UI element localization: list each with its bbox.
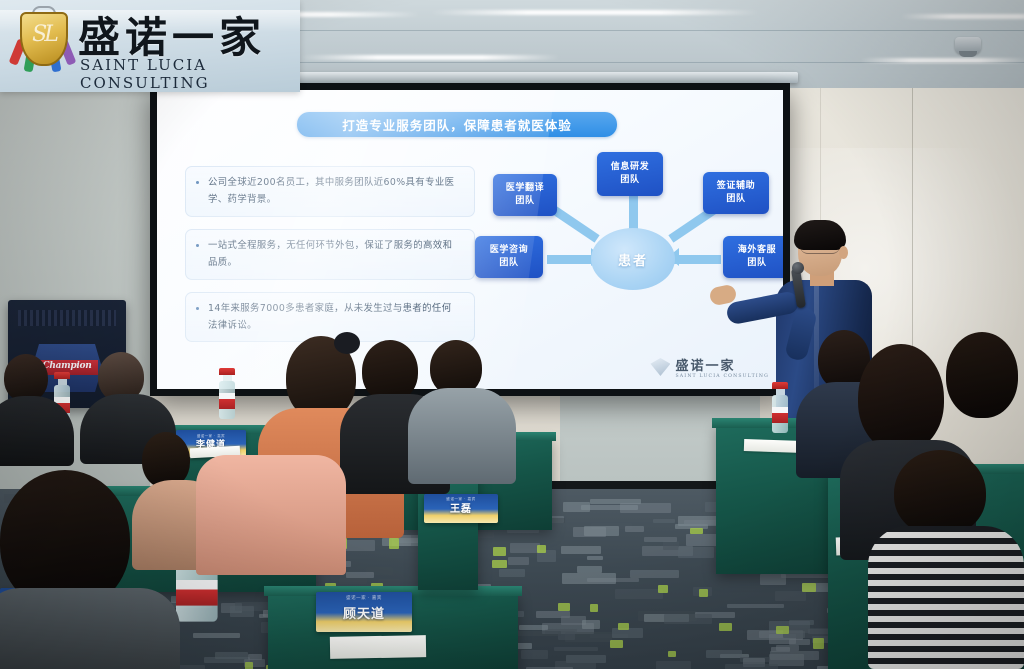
nameplate: 盛诺一家 · 嘉宾 顾天道 [316,592,412,632]
node-line-2: 团队 [515,195,534,209]
company-crest-icon: SL [14,6,70,76]
carpet-accent-fleck [537,545,546,552]
ceiling-light-strip [900,14,1024,19]
audience-head [858,344,944,452]
node-line-1: 医学翻译 [506,182,544,196]
carpet-fleck [582,620,600,629]
node-line-2: 团队 [620,174,639,188]
node-line-1: 医学咨询 [490,244,528,258]
carpet-fleck [783,628,832,638]
node-line-1: 信息研发 [611,161,649,175]
audience-body [0,588,180,669]
node-line-1: 签证辅助 [717,180,755,194]
diagram-center-node: 患者 [591,228,675,290]
crest-monogram: SL [22,22,66,47]
diamond-logo-icon [650,358,670,376]
carpet-fleck [193,633,240,638]
audience-body [408,388,516,484]
banner-brand-en: SAINT LUCIA CONSULTING [80,56,300,92]
carpet-accent-fleck [389,538,400,548]
sprinkler-head-icon [955,37,981,54]
audience-head [362,340,418,402]
diagram-node-information-rd: 信息研发 团队 [597,152,663,196]
presenter-glasses-icon [800,244,840,254]
carpet-accent-fleck [690,528,703,534]
carpet-fleck [521,650,548,659]
carpet-accent-fleck [245,662,253,669]
carpet-fleck [727,604,784,608]
carpet-fleck [562,573,617,584]
carpet-fleck [346,572,373,578]
carpet-fleck [615,589,663,598]
carpet-accent-fleck [558,603,570,611]
ceiling-light-strip [300,55,560,60]
slide-bullet-item: 一站式全程服务，无任何环节外包，保证了服务的高效和品质。 [185,229,475,280]
slide-bullet-item: 14年来服务7000多患者家庭，从未发生过与患者的任何法律诉讼。 [185,292,475,343]
diagram-node-medical-translation: 医学翻译 团队 [493,174,557,216]
nameplate: 盛诺一家 · 嘉宾 王磊 [424,494,498,523]
carpet-fleck [678,547,714,558]
carpet-fleck [561,546,602,554]
handout-paper [330,635,426,659]
nameplate-subtitle: 盛诺一家 · 嘉宾 [316,595,412,601]
nameplate-subtitle: 盛诺一家 · 嘉宾 [424,497,498,502]
carpet-accent-fleck [699,589,708,597]
node-line-2: 团队 [726,193,745,207]
carpet-accent-fleck [493,547,505,557]
carpet-fleck [775,591,805,601]
hall-banner: SL盛诺一家SAINT LUCIA CONSULTING [0,0,300,92]
presenter-ear [839,246,848,259]
audience-head [334,332,360,354]
carpet-accent-fleck [492,560,507,568]
carpet-accent-fleck [802,583,816,592]
carpet-accent-fleck [719,623,732,631]
carpet-fleck [656,661,691,669]
carpet-accent-fleck [590,604,599,612]
ceiling-light-strip [430,10,760,15]
carpet-fleck [516,631,561,635]
carpet-fleck [653,519,675,523]
carpet-fleck [587,556,603,560]
slide-bullet-item: 公司全球近200名员工，其中服务团队近60%具有专业医学、药学背景。 [185,166,475,217]
carpet-accent-fleck [658,585,668,594]
carpet-fleck [577,566,602,572]
carpet-accent-fleck [776,626,789,635]
crest-shield-icon: SL [20,12,68,66]
carpet-fleck [508,557,529,565]
carpet-fleck [519,625,548,630]
carpet-fleck [760,574,786,585]
carpet-fleck [510,543,541,553]
backdrop-mesh [18,310,116,326]
diagram-node-medical-consulting: 医学咨询 团队 [475,236,543,278]
slide-title-banner: 打造专业服务团队，保障患者就医体验 [297,112,617,137]
carpet-fleck [554,647,598,651]
slide-bullet-list: 公司全球近200名员工，其中服务团队近60%具有专业医学、药学背景。 一站式全程… [185,166,475,354]
carpet-fleck [230,606,254,617]
audience-body [868,526,1024,669]
carpet-fleck [725,664,778,669]
diagram-node-visa-support: 签证辅助 团队 [703,172,769,214]
seminar-photo-scene: 打造专业服务团队，保障患者就医体验 公司全球近200名员工，其中服务团队近60%… [0,0,1024,669]
carpet-fleck [706,650,742,658]
carpet-fleck [499,569,525,577]
audience-body [196,455,346,575]
water-bottle [219,368,235,419]
carpet-accent-fleck [610,640,623,648]
node-line-2: 团队 [499,257,518,271]
carpet-fleck [339,578,367,584]
audience-head [894,450,986,536]
microphone-head-icon [792,262,804,274]
carpet-fleck [630,570,679,577]
carpet-accent-fleck [618,623,630,630]
nameplate-name: 王磊 [450,505,472,515]
carpet-accent-fleck [813,638,824,648]
carpet-fleck [590,499,641,503]
ceiling-light-strip [860,58,1024,63]
carpet-fleck [581,505,638,510]
carpet-accent-fleck [668,651,676,657]
carpet-fleck [204,657,250,663]
carpet-fleck [625,526,644,532]
carpet-fleck [664,614,712,624]
audience-head [946,332,1018,418]
carpet-fleck [584,526,620,536]
nameplate-name: 顾天道 [343,608,385,621]
nameplate-subtitle: 盛诺一家 · 嘉宾 [176,433,246,438]
carpet-fleck [663,541,679,550]
carpet-fleck [644,537,677,542]
audience-head [4,354,48,402]
carpet-fleck [789,620,813,625]
water-bottle [772,382,788,433]
